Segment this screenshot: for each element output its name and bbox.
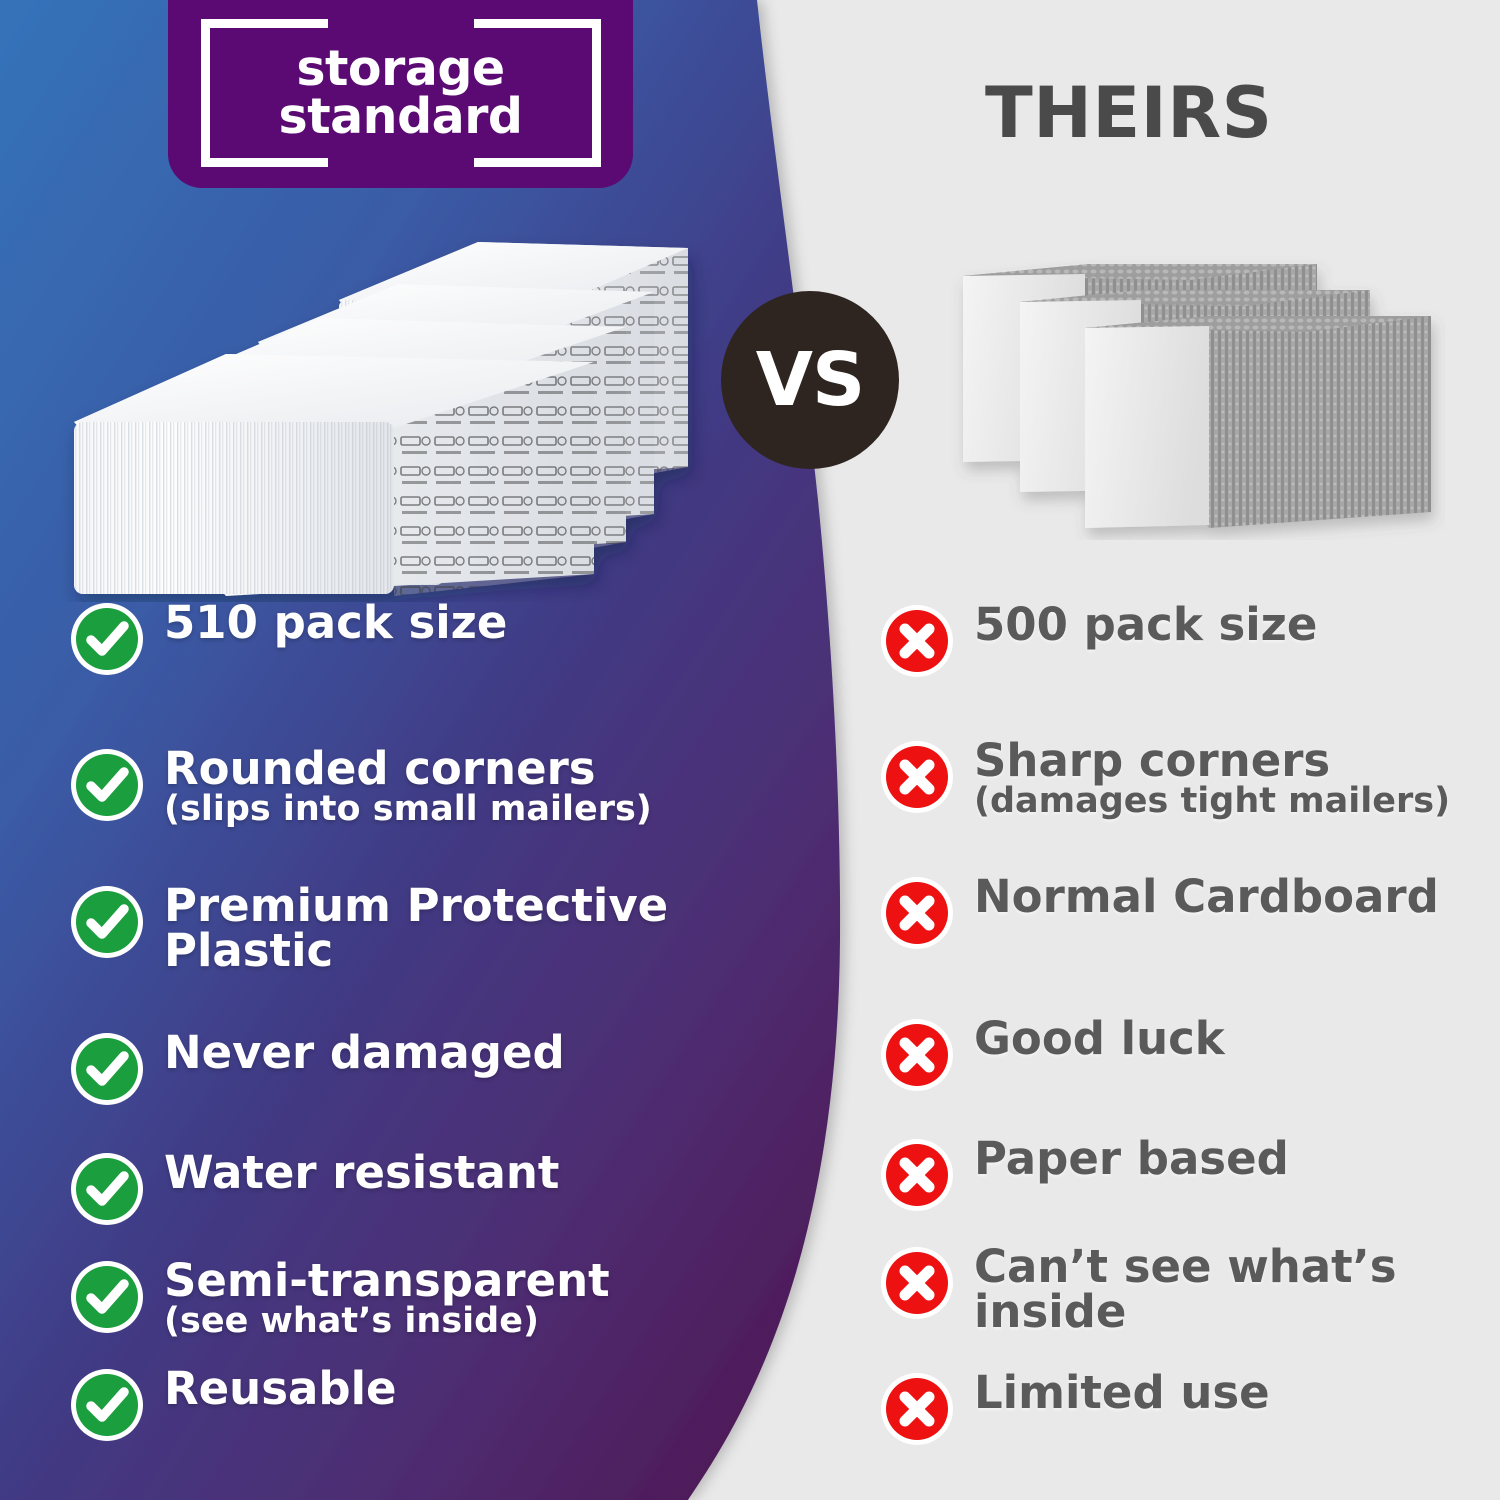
feature-label-main: Sharp corners — [974, 738, 1450, 783]
x-circle-icon — [878, 738, 956, 816]
check-circle-icon — [68, 1366, 146, 1444]
feature-label: Premium Protective Plastic — [164, 883, 724, 973]
feature-row: Good luck — [878, 1016, 1225, 1094]
x-circle-icon — [878, 1016, 956, 1094]
feature-label-main: Semi-transparent — [164, 1258, 610, 1303]
theirs-heading: THEIRS — [985, 72, 1273, 154]
vs-label: VS — [756, 337, 865, 423]
check-circle-icon — [68, 883, 146, 961]
feature-row: 510 pack size — [68, 600, 507, 678]
feature-row: Premium Protective Plastic — [68, 883, 724, 973]
feature-row: Normal Cardboard — [878, 874, 1439, 952]
feature-row: 500 pack size — [878, 602, 1317, 680]
logo-bracket-frame: storage standard — [201, 28, 601, 158]
feature-label: Reusable — [164, 1366, 397, 1411]
brand-logo-badge: storage standard — [168, 0, 633, 188]
x-circle-icon — [878, 1136, 956, 1214]
feature-row: Never damaged — [68, 1030, 565, 1108]
feature-label-main: Paper based — [974, 1136, 1289, 1181]
feature-label: Limited use — [974, 1370, 1270, 1415]
feature-label: Never damaged — [164, 1030, 565, 1075]
feature-label: Water resistant — [164, 1150, 559, 1195]
feature-row: Rounded corners(slips into small mailers… — [68, 746, 652, 827]
feature-label: Paper based — [974, 1136, 1289, 1181]
check-circle-icon — [68, 600, 146, 678]
check-circle-icon — [68, 1258, 146, 1336]
feature-label: Rounded corners(slips into small mailers… — [164, 746, 652, 827]
feature-label-main: 500 pack size — [974, 602, 1317, 647]
comparison-infographic: storage standard THEIRS VS 510 pack size… — [0, 0, 1500, 1500]
feature-label-main: Premium Protective Plastic — [164, 883, 724, 973]
feature-label-sub: (see what’s inside) — [164, 1304, 610, 1339]
check-circle-icon — [68, 746, 146, 824]
x-circle-icon — [878, 1370, 956, 1448]
feature-label-main: Reusable — [164, 1366, 397, 1411]
feature-label: 510 pack size — [164, 600, 507, 645]
vs-badge: VS — [721, 291, 899, 469]
feature-label-main: Water resistant — [164, 1150, 559, 1195]
feature-row: Limited use — [878, 1370, 1270, 1448]
x-circle-icon — [878, 602, 956, 680]
feature-row: Paper based — [878, 1136, 1289, 1214]
x-circle-icon — [878, 1244, 956, 1322]
brand-logo-line-2: standard — [279, 93, 523, 142]
check-circle-icon — [68, 1150, 146, 1228]
theirs-product-image — [945, 240, 1445, 540]
feature-label: Sharp corners(damages tight mailers) — [974, 738, 1450, 819]
feature-label-main: Good luck — [974, 1016, 1225, 1061]
feature-label-main: Never damaged — [164, 1030, 565, 1075]
feature-label-sub: (damages tight mailers) — [974, 784, 1450, 819]
feature-row: Sharp corners(damages tight mailers) — [878, 738, 1450, 819]
x-circle-icon — [878, 874, 956, 952]
feature-row: Water resistant — [68, 1150, 559, 1228]
feature-label: Good luck — [974, 1016, 1225, 1061]
feature-label-main: 510 pack size — [164, 600, 507, 645]
feature-label-main: Normal Cardboard — [974, 874, 1439, 919]
feature-label-main: Rounded corners — [164, 746, 652, 791]
feature-label: Normal Cardboard — [974, 874, 1439, 919]
feature-label: Semi-transparent(see what’s inside) — [164, 1258, 610, 1339]
feature-label-main: Limited use — [974, 1370, 1270, 1415]
feature-row: Reusable — [68, 1366, 397, 1444]
feature-label: Can’t see what’s inside — [974, 1244, 1444, 1334]
feature-row: Semi-transparent(see what’s inside) — [68, 1258, 610, 1339]
feature-label-sub: (slips into small mailers) — [164, 792, 652, 827]
check-circle-icon — [68, 1030, 146, 1108]
feature-row: Can’t see what’s inside — [878, 1244, 1444, 1334]
feature-label-main: Can’t see what’s inside — [974, 1244, 1444, 1334]
brand-logo-line-1: storage — [279, 45, 523, 94]
ours-product-image — [58, 222, 718, 602]
feature-label: 500 pack size — [974, 602, 1317, 647]
brand-logo-wordmark: storage standard — [263, 45, 539, 142]
